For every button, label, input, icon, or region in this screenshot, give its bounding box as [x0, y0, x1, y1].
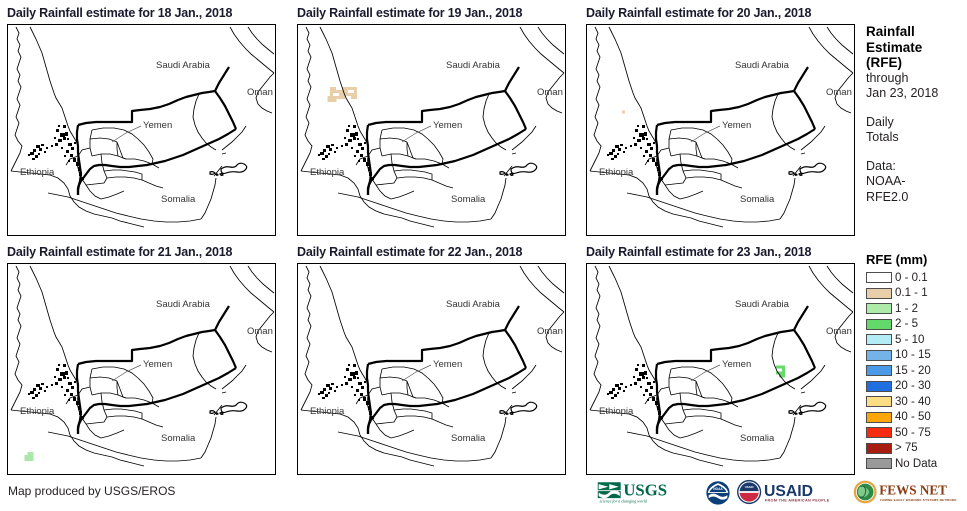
map-label-yemen: Yemen — [433, 359, 462, 370]
governorate-border — [382, 393, 416, 398]
map-label-oman: Oman — [537, 87, 563, 98]
terrain-speckle — [60, 133, 65, 137]
terrain-speckle — [346, 129, 349, 132]
legend-row[interactable]: 30 - 40 — [866, 394, 966, 410]
governorate-border — [142, 419, 163, 427]
terrain-speckle — [625, 147, 627, 149]
terrain-speckle — [341, 145, 343, 147]
governorate-border — [686, 416, 721, 419]
terrain-speckle — [63, 364, 66, 367]
legend-swatch — [866, 381, 892, 392]
terrain-speckle — [642, 125, 645, 128]
governorate-border — [380, 369, 382, 395]
data-source-line-1: Data: — [866, 159, 966, 175]
terrain-speckle — [320, 152, 324, 155]
terrain-speckle — [44, 390, 46, 392]
coastline-path — [491, 178, 506, 219]
map-panel-4: Daily Rainfall estimate for 21 Jan., 201… — [7, 245, 276, 475]
terrain-speckle — [649, 393, 652, 396]
rainfall-cell — [348, 93, 351, 96]
coastline-path — [590, 266, 601, 410]
terrain-speckle — [28, 393, 30, 395]
map-label-saudi-arabia: Saudi Arabia — [446, 60, 501, 71]
map-label-somalia: Somalia — [740, 433, 775, 444]
legend-label: 1 - 2 — [895, 303, 918, 315]
rainfall-cell — [776, 366, 779, 369]
rainfall-cell — [782, 369, 785, 372]
usgs-logo[interactable]: USGS science for a changing world — [596, 478, 700, 506]
terrain-speckle — [635, 129, 638, 132]
map-frame[interactable]: Saudi ArabiaOmanYemenEthiopiaSomalia — [7, 24, 276, 236]
panel-title: Daily Rainfall estimate for 21 Jan., 201… — [7, 245, 276, 259]
terrain-speckle — [639, 372, 644, 376]
coastline-path — [827, 27, 853, 54]
map-label-saudi-arabia: Saudi Arabia — [446, 299, 501, 310]
terrain-speckle — [74, 381, 76, 383]
national-border — [505, 67, 519, 91]
legend-title: RFE (mm) — [866, 252, 966, 267]
map-panel-2: Daily Rainfall estimate for 19 Jan., 201… — [297, 6, 566, 236]
national-border — [794, 67, 808, 91]
terrain-speckle — [630, 384, 632, 386]
legend-row[interactable]: 5 - 10 — [866, 332, 966, 348]
map-label-oman: Oman — [537, 326, 563, 337]
terrain-speckle — [56, 368, 59, 371]
totals-line-1: Daily — [866, 115, 966, 131]
legend-rows: 0 - 0.10.1 - 11 - 22 - 55 - 1010 - 1515 … — [866, 270, 966, 472]
island-outline — [220, 413, 223, 415]
terrain-speckle — [334, 390, 336, 392]
rfe-info-block: Rainfall Estimate (RFE) through Jan 23, … — [866, 24, 966, 205]
map-label-layer: Saudi ArabiaOmanYemenEthiopiaSomalia — [20, 60, 273, 205]
map-label-yemen: Yemen — [143, 359, 172, 370]
terrain-speckle — [346, 368, 349, 371]
terrain-speckle — [63, 125, 66, 128]
coastline-path — [801, 153, 805, 154]
rainfall-cell — [336, 90, 339, 93]
terrain-speckle — [41, 144, 44, 146]
coastline-path — [691, 457, 723, 466]
terrain-speckle — [360, 154, 363, 157]
terrain-speckle — [637, 378, 641, 381]
island-outline — [510, 413, 513, 415]
governorate-border — [671, 393, 705, 398]
governorate-border — [86, 178, 107, 185]
terrain-speckle — [66, 389, 69, 392]
rainfall-cell — [28, 455, 31, 458]
terrain-speckle — [607, 393, 609, 395]
terrain-speckle — [360, 393, 363, 396]
island-outline — [510, 174, 513, 176]
terrain-speckle — [325, 155, 328, 158]
terrain-speckle — [58, 125, 60, 127]
map-frame[interactable]: Saudi ArabiaOmanYemenEthiopiaSomalia — [586, 24, 855, 236]
panel-title: Daily Rainfall estimate for 23 Jan., 201… — [586, 245, 855, 259]
terrain-speckle — [60, 372, 65, 376]
terrain-speckle — [46, 147, 48, 149]
terrain-speckle — [633, 137, 635, 139]
terrain-speckle — [39, 387, 42, 390]
map-label-ethiopia: Ethiopia — [310, 406, 345, 417]
island-outline — [799, 174, 802, 176]
terrain-speckle — [334, 151, 336, 153]
governorate-border — [86, 185, 101, 199]
governorate-border — [382, 128, 428, 139]
coastline-path — [512, 392, 516, 393]
coastline-path — [538, 27, 564, 54]
coastline-path — [402, 218, 434, 227]
terrain-speckle — [320, 391, 324, 394]
governorate-border — [721, 419, 742, 427]
terrain-speckle — [331, 383, 334, 385]
usaid-seal-text: USAID — [745, 485, 754, 489]
rfe-title-line-3: (RFE) — [866, 55, 966, 71]
governorate-border — [104, 409, 128, 410]
coastline-path — [222, 153, 226, 154]
governorate-border — [104, 170, 128, 171]
rainfall-cell — [351, 96, 354, 99]
legend-swatch — [866, 458, 892, 469]
rainfall-cell — [345, 87, 348, 90]
coastline-path — [301, 171, 402, 218]
map-canvas: Saudi ArabiaOmanYemenEthiopiaSomalia — [8, 264, 275, 474]
terrain-speckle — [617, 153, 619, 155]
terrain-speckle — [348, 139, 352, 142]
noaa-logo[interactable]: NOAA — [704, 478, 732, 506]
terrain-speckle — [65, 132, 68, 136]
island-outline — [795, 413, 797, 414]
terrain-speckle — [611, 158, 614, 160]
map-panel-5: Daily Rainfall estimate for 22 Jan., 201… — [297, 245, 566, 475]
terrain-speckle — [357, 138, 359, 140]
coastline-path — [590, 171, 691, 218]
governorate-border — [671, 154, 705, 159]
legend-row[interactable]: 20 - 30 — [866, 379, 966, 395]
terrain-speckle — [61, 147, 63, 149]
governorate-border — [86, 417, 107, 424]
governorate-border — [90, 369, 92, 395]
terrain-speckle — [647, 143, 651, 146]
rfe-title-line-1: Rainfall — [866, 24, 966, 40]
terrain-speckle — [645, 150, 648, 153]
national-border-layer — [77, 306, 236, 434]
rainfall-cell — [345, 90, 348, 93]
rainfall-cell — [782, 366, 785, 369]
map-label-layer: Saudi ArabiaOmanYemenEthiopiaSomalia — [310, 60, 563, 205]
terrain-speckle — [642, 137, 645, 140]
island-outline — [500, 172, 505, 175]
governorate-border — [376, 185, 391, 199]
terrain-speckle — [323, 149, 326, 152]
legend-swatch — [866, 288, 892, 299]
legend-swatch — [866, 396, 892, 407]
terrain-speckle — [633, 376, 635, 378]
terrain-speckle — [30, 152, 34, 155]
terrain-speckle — [345, 143, 348, 146]
terrain-speckle — [58, 378, 62, 381]
terrain-speckle — [642, 364, 645, 367]
rainfall-cell — [331, 99, 334, 102]
coastline-path — [609, 266, 657, 385]
terrain-speckle — [640, 147, 642, 149]
island-outline — [221, 163, 247, 173]
terrain-speckle — [51, 384, 53, 386]
governorate-border — [669, 369, 671, 395]
terrain-speckle — [55, 143, 58, 146]
national-border-layer — [367, 306, 526, 434]
map-label-layer: Saudi ArabiaOmanYemenEthiopiaSomalia — [310, 299, 563, 444]
terrain-speckle — [63, 376, 66, 379]
terrain-speckle — [637, 125, 639, 127]
rainfall-cell — [25, 458, 28, 461]
coastline-path — [609, 27, 657, 146]
governorate-border — [669, 130, 671, 156]
terrain-speckle — [652, 397, 655, 401]
governorate-border — [92, 128, 138, 139]
terrain-speckle — [73, 397, 76, 401]
rainfall-cell — [328, 99, 331, 102]
map-frame[interactable]: Saudi ArabiaOmanYemenEthiopiaSomalia — [586, 263, 855, 475]
terrain-speckle — [650, 147, 653, 150]
governorate-border — [683, 409, 707, 410]
terrain-speckle — [623, 151, 625, 153]
terrain-speckle — [363, 397, 366, 401]
island-outline — [511, 402, 537, 412]
map-svg: Saudi ArabiaOmanYemenEthiopiaSomalia — [298, 25, 565, 235]
terrain-speckle — [71, 147, 74, 150]
terrain-speckle — [325, 394, 328, 397]
terrain-speckle — [639, 133, 644, 137]
governorate-border — [397, 416, 432, 419]
national-border — [215, 330, 236, 368]
island-outline — [511, 163, 537, 173]
rfe-through-date: Jan 23, 2018 — [866, 86, 966, 102]
map-canvas: Saudi ArabiaOmanYemenEthiopiaSomalia — [587, 25, 854, 235]
terrain-speckle — [614, 394, 617, 397]
rfe-title: Rainfall Estimate (RFE) — [866, 24, 966, 71]
coastline-path — [301, 266, 312, 410]
legend-row[interactable]: 50 - 75 — [866, 425, 966, 441]
governorate-border — [382, 367, 428, 378]
map-frame[interactable]: Saudi ArabiaOmanYemenEthiopiaSomalia — [297, 24, 566, 236]
coastline-path — [538, 266, 564, 293]
terrain-speckle — [609, 152, 613, 155]
totals-line-2: Totals — [866, 130, 966, 146]
terrain-speckle — [41, 383, 44, 385]
map-label-somalia: Somalia — [161, 433, 196, 444]
terrain-speckle — [361, 386, 364, 389]
coastline-path — [248, 27, 274, 54]
legend-swatch — [866, 319, 892, 330]
map-label-somalia: Somalia — [451, 194, 486, 205]
terrain-speckle — [625, 386, 627, 388]
rainfall-cell — [334, 99, 337, 102]
data-source-line-3: RFE2.0 — [866, 190, 966, 206]
coastline-path — [230, 27, 274, 73]
terrain-speckle — [618, 148, 621, 151]
national-border — [794, 306, 808, 330]
map-panel-3: Daily Rainfall estimate for 20 Jan., 201… — [586, 6, 855, 236]
terrain-speckle — [609, 391, 613, 394]
terrain-speckle — [336, 147, 338, 149]
terrain-speckle — [30, 391, 34, 394]
governorate-border — [380, 130, 382, 156]
terrain-speckle — [54, 137, 56, 139]
legend-row[interactable]: 2 - 5 — [866, 317, 966, 333]
terrain-speckle — [353, 364, 356, 367]
terrain-speckle — [353, 376, 356, 379]
terrain-speckle — [331, 144, 334, 146]
governorate-border — [90, 130, 92, 156]
terrain-speckle — [620, 144, 623, 146]
governorate-border — [92, 367, 138, 378]
terrain-speckle — [68, 382, 72, 385]
legend-label: 40 - 50 — [895, 411, 931, 423]
partner-logo-strip: USGS science for a changing world NOAA U… — [596, 477, 967, 507]
island-outline — [506, 174, 508, 175]
coastline-path — [801, 392, 805, 393]
terrain-speckle — [329, 148, 332, 151]
governorate-border — [391, 191, 414, 199]
legend-row[interactable]: > 75 — [866, 441, 966, 457]
legend-label: 0.1 - 1 — [895, 287, 928, 299]
legend-row[interactable]: 15 - 20 — [866, 363, 966, 379]
legend-swatch — [866, 350, 892, 361]
map-label-oman: Oman — [826, 326, 852, 337]
legend-swatch — [866, 303, 892, 314]
map-svg: Saudi ArabiaOmanYemenEthiopiaSomalia — [298, 264, 565, 474]
rainfall-cell — [342, 96, 345, 99]
island-outline — [789, 411, 794, 414]
terrain-speckle — [322, 397, 325, 399]
coastline-path — [222, 392, 226, 393]
terrain-speckle — [74, 142, 76, 144]
legend-row[interactable]: No Data — [866, 456, 966, 472]
terrain-speckle — [58, 139, 62, 142]
panel-title: Daily Rainfall estimate for 20 Jan., 201… — [586, 6, 855, 20]
governorate-border — [107, 416, 142, 419]
terrain-speckle — [354, 155, 356, 157]
island-outline — [795, 174, 797, 175]
map-label-oman: Oman — [826, 87, 852, 98]
terrain-speckle — [70, 154, 73, 157]
map-svg: Saudi ArabiaOmanYemenEthiopiaSomalia — [8, 264, 275, 474]
governorate-border — [376, 178, 397, 185]
rainfall-cell — [779, 366, 782, 369]
terrain-speckle — [635, 368, 638, 371]
map-panel-1: Daily Rainfall estimate for 18 Jan., 201… — [7, 6, 276, 236]
map-canvas: Saudi ArabiaOmanYemenEthiopiaSomalia — [8, 25, 275, 235]
governorate-border — [665, 424, 680, 438]
coastline-path — [11, 27, 22, 171]
map-label-layer: Saudi ArabiaOmanYemenEthiopiaSomalia — [20, 299, 273, 444]
legend-row[interactable]: 0.1 - 1 — [866, 286, 966, 302]
map-label-saudi-arabia: Saudi Arabia — [735, 299, 790, 310]
map-label-oman: Oman — [247, 87, 273, 98]
map-label-somalia: Somalia — [451, 433, 486, 444]
terrain-speckle — [328, 153, 330, 155]
coastline-path — [590, 410, 691, 457]
terrain-speckle — [58, 364, 60, 366]
noaa-logo-text: NOAA — [713, 487, 723, 491]
usaid-logo[interactable]: USAID USAID FROM THE AMERICAN PEOPLE — [736, 478, 848, 506]
rainfall-layer — [622, 111, 625, 114]
terrain-speckle — [66, 150, 69, 153]
terrain-speckle — [70, 393, 73, 396]
national-border — [215, 306, 229, 330]
governorate-border — [686, 177, 721, 180]
map-label-ethiopia: Ethiopia — [599, 167, 634, 178]
terrain-speckle — [361, 147, 364, 150]
national-border-layer — [367, 67, 526, 195]
terrain-speckle — [38, 392, 40, 394]
map-frame[interactable]: Saudi ArabiaOmanYemenEthiopiaSomalia — [297, 263, 566, 475]
terrain-speckle — [356, 150, 359, 153]
socotra-islands — [500, 163, 537, 175]
terrain-speckle — [46, 386, 48, 388]
governorate-border — [671, 367, 717, 378]
terrain-speckle — [612, 149, 615, 152]
governorate-border — [142, 180, 163, 188]
terrain-speckle — [652, 158, 655, 162]
legend-label: 30 - 40 — [895, 396, 931, 408]
terrain-speckle — [615, 384, 619, 387]
fewsnet-logo[interactable]: FEWS NET FAMINE EARLY WARNING SYSTEMS NE… — [852, 478, 967, 506]
terrain-speckle — [328, 392, 330, 394]
terrain-speckle — [39, 148, 42, 151]
terrain-speckle — [611, 397, 614, 399]
governorate-border — [376, 417, 397, 424]
map-label-yemen: Yemen — [433, 120, 462, 131]
rainfall-cell — [354, 90, 357, 93]
coastline-path — [809, 266, 853, 312]
terrain-speckle — [617, 392, 619, 394]
terrain-speckle — [33, 388, 36, 391]
map-label-yemen: Yemen — [722, 359, 751, 370]
island-outline — [789, 172, 794, 175]
rainfall-cell — [333, 87, 336, 90]
map-label-yemen: Yemen — [143, 120, 172, 131]
governorate-border — [683, 170, 707, 171]
terrain-speckle — [356, 389, 359, 392]
national-border — [505, 91, 526, 129]
coastline-path — [590, 27, 601, 171]
legend-row[interactable]: 0 - 0.1 — [866, 270, 966, 286]
terrain-speckle — [634, 143, 637, 146]
terrain-speckle — [364, 142, 366, 144]
legend-row[interactable]: 1 - 2 — [866, 301, 966, 317]
legend-swatch — [866, 443, 892, 454]
coastline-path — [520, 27, 564, 73]
terrain-speckle — [67, 138, 69, 140]
rainfall-cell — [28, 452, 31, 455]
legend-row[interactable]: 10 - 15 — [866, 348, 966, 364]
terrain-speckle — [653, 142, 655, 144]
map-label-ethiopia: Ethiopia — [310, 167, 345, 178]
map-frame[interactable]: Saudi ArabiaOmanYemenEthiopiaSomalia — [7, 263, 276, 475]
terrain-speckle — [318, 154, 320, 156]
terrain-speckle — [642, 376, 645, 379]
legend-row[interactable]: 40 - 50 — [866, 410, 966, 426]
terrain-speckle — [68, 143, 72, 146]
terrain-speckle — [355, 132, 358, 136]
national-border-layer — [77, 67, 236, 195]
map-label-yemen: Yemen — [722, 120, 751, 131]
terrain-speckle — [640, 386, 642, 388]
legend-label: 2 - 5 — [895, 318, 918, 330]
terrain-speckle — [354, 394, 356, 396]
map-label-oman: Oman — [247, 326, 273, 337]
